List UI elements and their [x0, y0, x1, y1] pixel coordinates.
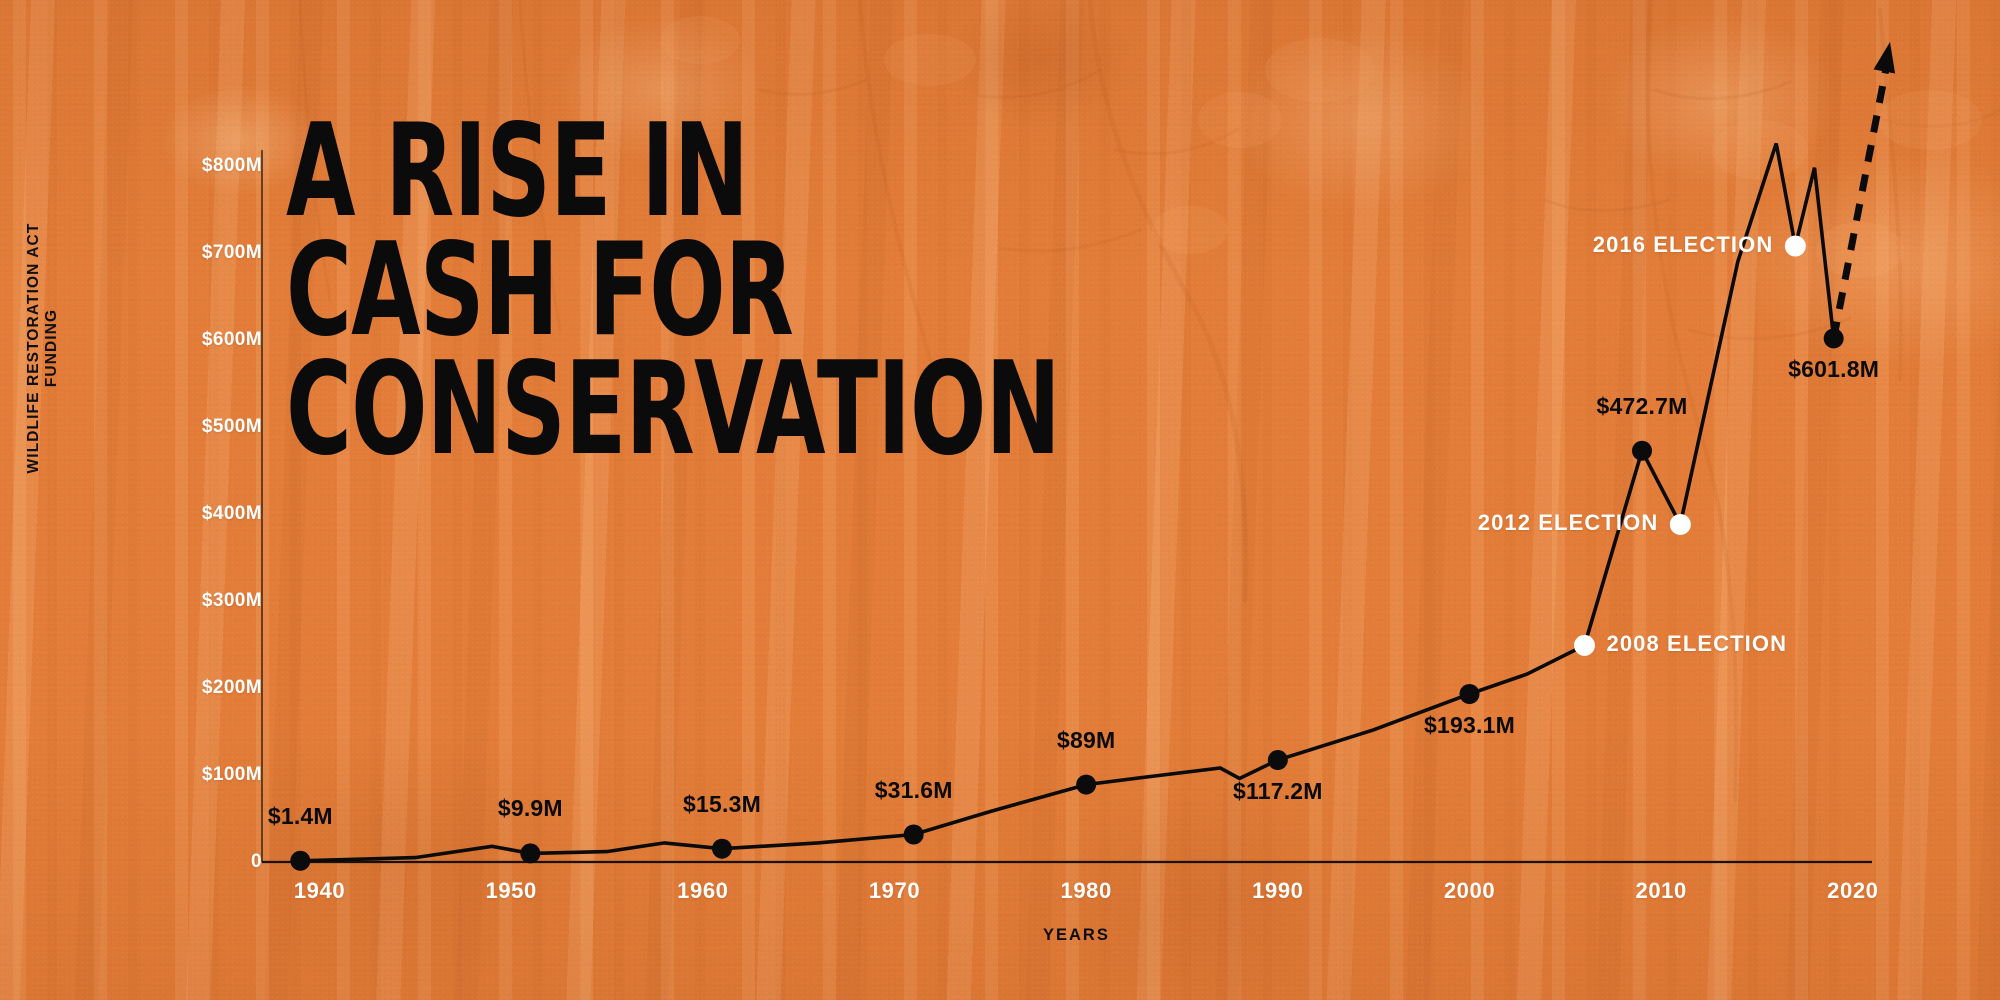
data-point-2019[interactable]	[1824, 328, 1844, 348]
data-point-1980[interactable]	[1076, 775, 1096, 795]
trend-arrow-icon	[1834, 48, 1890, 338]
data-point-2009[interactable]	[1632, 441, 1652, 461]
data-point-2000[interactable]	[1460, 684, 1480, 704]
election-point-2006[interactable]	[1574, 635, 1595, 656]
data-point-1971[interactable]	[904, 825, 924, 845]
line-chart-plot	[0, 0, 2000, 1000]
value-label-2019: $601.8M	[1788, 356, 1879, 383]
value-label-1951: $9.9M	[498, 795, 563, 822]
data-point-1961[interactable]	[712, 839, 732, 859]
value-label-2009: $472.7M	[1597, 393, 1688, 420]
annotation-2006: 2008 ELECTION	[1607, 631, 1788, 657]
data-point-1990[interactable]	[1268, 750, 1288, 770]
data-point-1951[interactable]	[520, 843, 540, 863]
value-label-1980: $89M	[1057, 727, 1115, 754]
value-label-1939: $1.4M	[268, 803, 333, 830]
value-label-1990: $117.2M	[1233, 778, 1323, 805]
arrow-head-icon	[1874, 42, 1896, 74]
election-point-2017[interactable]	[1785, 236, 1806, 257]
value-label-2000: $193.1M	[1424, 712, 1515, 739]
infographic-poster: A RISE IN CASH FOR CONSERVATION WILDLIFE…	[0, 0, 2000, 1000]
value-label-1961: $15.3M	[683, 791, 761, 818]
annotation-2011: 2012 ELECTION	[1478, 510, 1659, 536]
election-point-2011[interactable]	[1670, 514, 1691, 535]
value-label-1971: $31.6M	[875, 777, 953, 804]
annotation-2017: 2016 ELECTION	[1593, 232, 1774, 258]
data-point-1939[interactable]	[290, 851, 310, 871]
